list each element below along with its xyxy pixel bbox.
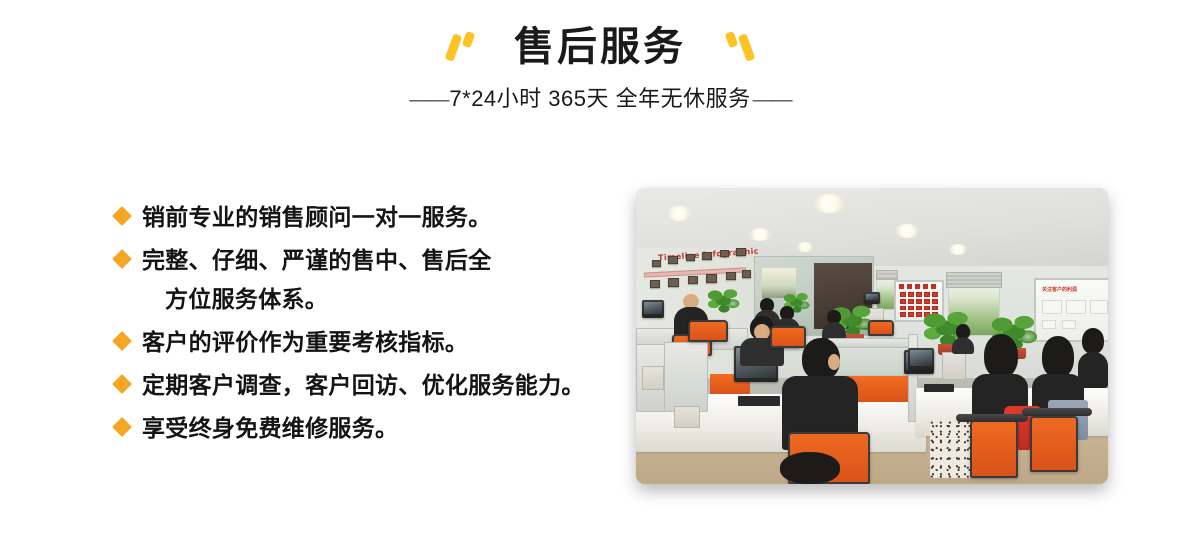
photo-chair xyxy=(1030,416,1078,472)
photo-window-blind xyxy=(946,272,1002,288)
wall-photo-frame xyxy=(736,248,746,256)
subtitle-dash-left: —— xyxy=(409,89,447,110)
photo-chair xyxy=(970,420,1018,478)
whiteboard-note xyxy=(1042,300,1062,314)
title-row: 售后服务 xyxy=(0,18,1200,76)
list-item-text: 享受终身免费维修服务。 xyxy=(142,409,398,448)
photo-window-blind xyxy=(876,270,898,280)
service-feature-list: 销前专业的销售顾问一对一服务。 完整、仔细、严谨的售中、售后全 方位服务体系。 … xyxy=(112,198,622,452)
board-red-header-strip xyxy=(899,284,939,289)
diamond-bullet-icon xyxy=(112,206,134,228)
list-item: 享受终身免费维修服务。 xyxy=(112,409,622,448)
wall-photo-frame xyxy=(702,252,712,260)
whiteboard-note xyxy=(1062,320,1076,329)
list-item-line1: 客户的评价作为重要考核指标。 xyxy=(142,329,468,355)
photo-keyboard xyxy=(924,384,954,392)
ceiling-light-icon xyxy=(748,228,772,241)
wall-photo-frame xyxy=(742,270,751,278)
subtitle-row: —— 7*24小时 365天 全年无休服务 —— xyxy=(0,88,1200,110)
photo-keyboard xyxy=(738,396,780,406)
list-item: 客户的评价作为重要考核指标。 xyxy=(112,323,622,362)
wall-photo-frame xyxy=(686,254,695,261)
list-item-line2: 方位服务体系。 xyxy=(142,280,492,319)
photo-monitor xyxy=(864,292,880,304)
header: 售后服务 —— 7*24小时 365天 全年无休服务 —— xyxy=(0,0,1200,140)
diamond-bullet-icon xyxy=(112,417,134,439)
photo-desk-item xyxy=(642,366,664,390)
list-item-line1: 完整、仔细、严谨的售中、售后全 xyxy=(142,247,492,273)
list-item-text: 客户的评价作为重要考核指标。 xyxy=(142,323,468,362)
diamond-bullet-icon xyxy=(112,374,134,396)
wall-photo-frame xyxy=(688,276,698,284)
photo-plant xyxy=(708,288,740,314)
diamond-bullet-icon xyxy=(112,331,134,353)
photo-monitor xyxy=(908,348,934,370)
wall-photo-frame xyxy=(706,274,717,283)
whiteboard-note xyxy=(1066,300,1086,314)
wall-photo-frame xyxy=(726,272,736,280)
content: 销前专业的销售顾问一对一服务。 完整、仔细、严谨的售中、售后全 方位服务体系。 … xyxy=(0,170,1200,556)
whiteboard-note xyxy=(1090,300,1108,314)
photo-chair xyxy=(770,326,806,348)
photo-chair xyxy=(868,320,894,336)
ceiling-light-icon xyxy=(796,242,814,252)
list-item: 定期客户调查，客户回访、优化服务能力。 xyxy=(112,366,622,405)
office-photo-scene: Timeline Infographic xyxy=(636,188,1108,484)
ceiling-light-icon xyxy=(812,194,846,213)
page-subtitle: 7*24小时 365天 全年无休服务 xyxy=(449,88,750,110)
list-item-line1: 享受终身免费维修服务。 xyxy=(142,415,398,441)
photo-monitor xyxy=(642,300,664,318)
ceiling-light-icon xyxy=(666,206,692,221)
whiteboard-header-text: 关注客户的利润 xyxy=(1042,286,1077,293)
photo-person-foreground xyxy=(764,452,856,484)
wall-photo-frame xyxy=(652,260,661,267)
photo-chair-armrest xyxy=(956,414,1028,422)
page-title: 售后服务 xyxy=(514,27,686,67)
list-item-line1: 销前专业的销售顾问一对一服务。 xyxy=(142,204,492,230)
list-item-text: 定期客户调查，客户回访、优化服务能力。 xyxy=(142,366,585,405)
yellow-double-slash-left-icon xyxy=(444,27,484,67)
diamond-bullet-icon xyxy=(112,249,134,271)
wall-photo-frame xyxy=(720,250,729,257)
yellow-double-slash-right-icon xyxy=(716,27,756,67)
list-item-line1: 定期客户调查，客户回访、优化服务能力。 xyxy=(142,372,585,398)
list-item: 完整、仔细、严谨的售中、售后全 方位服务体系。 xyxy=(112,241,622,319)
ceiling-light-icon xyxy=(948,244,968,255)
photo-desk-organizer xyxy=(942,352,966,380)
photo-person xyxy=(952,324,974,354)
photo-chair xyxy=(688,320,728,342)
list-item-text: 销前专业的销售顾问一对一服务。 xyxy=(142,198,492,237)
list-item-text: 完整、仔细、严谨的售中、售后全 方位服务体系。 xyxy=(142,241,492,319)
photo-cubicle-partition xyxy=(664,342,708,412)
wall-photo-frame xyxy=(668,256,678,264)
wall-photo-frame xyxy=(668,278,679,287)
after-sales-service-banner: 售后服务 —— 7*24小时 365天 全年无休服务 —— 销前专业的销售顾问一… xyxy=(0,0,1200,556)
photo-desk-item xyxy=(674,406,700,428)
photo-person xyxy=(1078,328,1108,388)
wall-photo-frame xyxy=(650,280,660,288)
office-photo: Timeline Infographic xyxy=(636,188,1108,484)
whiteboard-note xyxy=(1042,320,1056,329)
subtitle-dash-right: —— xyxy=(753,89,791,110)
photo-chair-armrest xyxy=(1022,408,1092,416)
ceiling-light-icon xyxy=(894,224,920,238)
list-item: 销前专业的销售顾问一对一服务。 xyxy=(112,198,622,237)
